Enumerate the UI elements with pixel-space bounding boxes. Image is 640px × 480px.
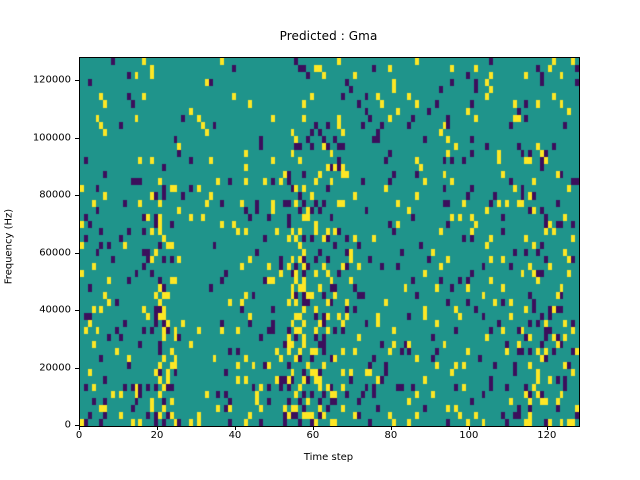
y-tick-label: 120000 — [33, 75, 71, 86]
x-tick-mark — [391, 426, 392, 430]
x-tick-label: 80 — [385, 430, 398, 441]
y-tick-label: 100000 — [33, 132, 71, 143]
y-tick-label: 60000 — [39, 247, 71, 258]
heatmap-image — [80, 58, 579, 426]
y-tick-mark — [75, 310, 79, 311]
figure-canvas: Predicted : Gma 020000400006000080000100… — [0, 0, 640, 480]
y-tick-label: 80000 — [39, 190, 71, 201]
y-tick-mark — [75, 195, 79, 196]
y-tick-mark — [75, 425, 79, 426]
x-tick-label: 0 — [76, 430, 82, 441]
x-tick-mark — [547, 426, 548, 430]
x-axis-label: Time step — [79, 452, 578, 463]
y-tick-mark — [75, 253, 79, 254]
x-tick-label: 100 — [459, 430, 478, 441]
y-tick-label: 0 — [65, 420, 71, 431]
y-tick-mark — [75, 138, 79, 139]
y-tick-mark — [75, 368, 79, 369]
x-tick-label: 40 — [229, 430, 242, 441]
x-tick-label: 120 — [537, 430, 556, 441]
x-tick-mark — [79, 426, 80, 430]
x-tick-mark — [235, 426, 236, 430]
x-tick-label: 60 — [307, 430, 320, 441]
heatmap-axes[interactable] — [79, 57, 580, 427]
y-tick-label: 20000 — [39, 362, 71, 373]
x-tick-mark — [157, 426, 158, 430]
y-tick-mark — [75, 80, 79, 81]
x-tick-mark — [469, 426, 470, 430]
page-title: Predicted : Gma — [79, 29, 578, 43]
y-tick-label: 40000 — [39, 305, 71, 316]
y-axis-label: Frequency (Hz) — [4, 147, 15, 347]
x-tick-mark — [313, 426, 314, 430]
x-tick-label: 20 — [151, 430, 164, 441]
